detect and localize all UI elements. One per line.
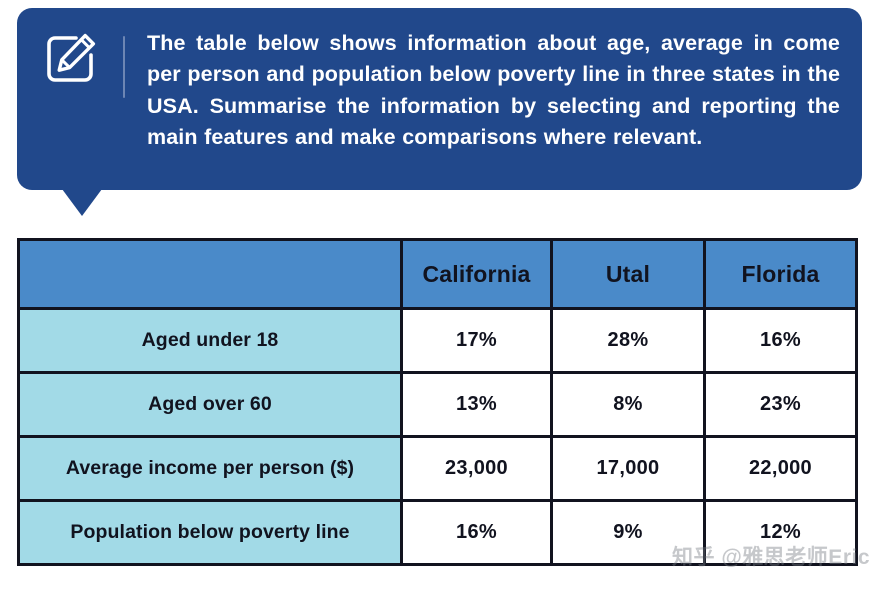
table-corner-cell <box>19 240 402 309</box>
bubble-divider <box>123 36 125 98</box>
column-header-utal: Utal <box>552 240 705 309</box>
cell-aged-under-18-utal: 28% <box>552 309 705 373</box>
column-header-california: California <box>402 240 552 309</box>
row-label-population-below-poverty-line: Population below poverty line <box>19 501 402 565</box>
statistics-table: California Utal Florida Aged under 18 17… <box>17 238 858 566</box>
cell-average-income-florida: 22,000 <box>705 437 857 501</box>
table-row: Aged over 60 13% 8% 23% <box>19 373 857 437</box>
cell-poverty-california: 16% <box>402 501 552 565</box>
cell-aged-under-18-california: 17% <box>402 309 552 373</box>
cell-aged-over-60-utal: 8% <box>552 373 705 437</box>
row-label-aged-under-18: Aged under 18 <box>19 309 402 373</box>
cell-aged-under-18-florida: 16% <box>705 309 857 373</box>
row-label-average-income: Average income per person ($) <box>19 437 402 501</box>
cell-poverty-utal: 9% <box>552 501 705 565</box>
table-row: Aged under 18 17% 28% 16% <box>19 309 857 373</box>
cell-average-income-california: 23,000 <box>402 437 552 501</box>
cell-average-income-utal: 17,000 <box>552 437 705 501</box>
cell-poverty-florida: 12% <box>705 501 857 565</box>
bubble-tail <box>62 189 102 216</box>
prompt-bubble: The table below shows information about … <box>17 8 862 190</box>
table-header-row: California Utal Florida <box>19 240 857 309</box>
row-label-aged-over-60: Aged over 60 <box>19 373 402 437</box>
cell-aged-over-60-california: 13% <box>402 373 552 437</box>
table-row: Population below poverty line 16% 9% 12% <box>19 501 857 565</box>
prompt-text: The table below shows information about … <box>147 28 840 154</box>
column-header-florida: Florida <box>705 240 857 309</box>
edit-square-pencil-icon <box>45 32 97 84</box>
cell-aged-over-60-florida: 23% <box>705 373 857 437</box>
table-row: Average income per person ($) 23,000 17,… <box>19 437 857 501</box>
